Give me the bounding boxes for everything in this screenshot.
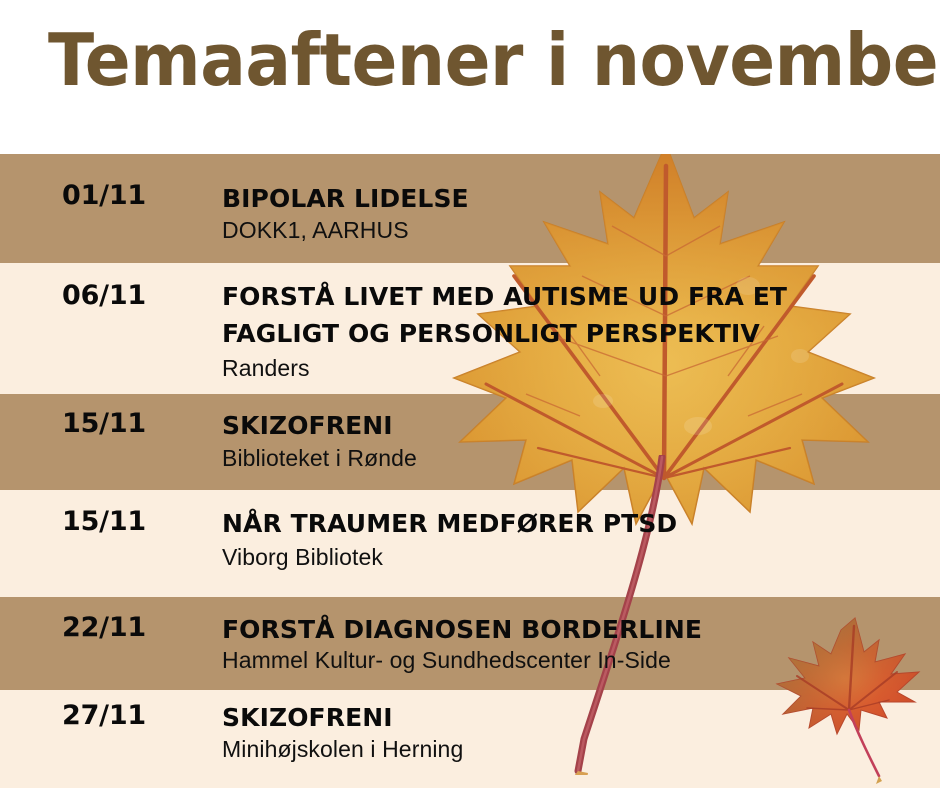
event-title: FORSTÅ LIVET MED AUTISME UD FRA ET FAGLI…: [222, 278, 787, 352]
event-title: NÅR TRAUMER MEDFØRER PTSD: [222, 505, 677, 542]
poster-header: Temaaftener i november: [0, 0, 940, 154]
event-venue: Biblioteket i Rønde: [222, 445, 417, 472]
event-date: 15/11: [62, 408, 146, 439]
event-date: 15/11: [62, 506, 146, 537]
event-date: 01/11: [62, 180, 146, 211]
event-date: 27/11: [62, 700, 146, 731]
event-row[interactable]: 27/11SKIZOFRENIMinihøjskolen i Herning: [0, 690, 940, 788]
event-row[interactable]: 15/11SKIZOFRENIBiblioteket i Rønde: [0, 394, 940, 490]
page-title: Temaaftener i november: [48, 24, 940, 96]
event-venue: Hammel Kultur- og Sundhedscenter In-Side: [222, 647, 671, 674]
event-date: 22/11: [62, 612, 146, 643]
event-title: FORSTÅ DIAGNOSEN BORDERLINE: [222, 611, 702, 648]
event-title: SKIZOFRENI: [222, 699, 393, 736]
event-row[interactable]: 15/11NÅR TRAUMER MEDFØRER PTSDViborg Bib…: [0, 490, 940, 597]
event-venue: Minihøjskolen i Herning: [222, 736, 463, 763]
event-title: BIPOLAR LIDELSE: [222, 180, 469, 217]
event-venue: Randers: [222, 355, 310, 382]
event-row[interactable]: 06/11FORSTÅ LIVET MED AUTISME UD FRA ET …: [0, 263, 940, 394]
event-venue: Viborg Bibliotek: [222, 544, 383, 571]
event-date: 06/11: [62, 280, 146, 311]
poster-canvas: Temaaftener i november 01/11BIPOLAR LIDE…: [0, 0, 940, 788]
event-row[interactable]: 01/11BIPOLAR LIDELSEDOKK1, AARHUS: [0, 154, 940, 263]
event-title: SKIZOFRENI: [222, 407, 393, 444]
event-venue: DOKK1, AARHUS: [222, 217, 409, 244]
event-row[interactable]: 22/11FORSTÅ DIAGNOSEN BORDERLINEHammel K…: [0, 597, 940, 690]
